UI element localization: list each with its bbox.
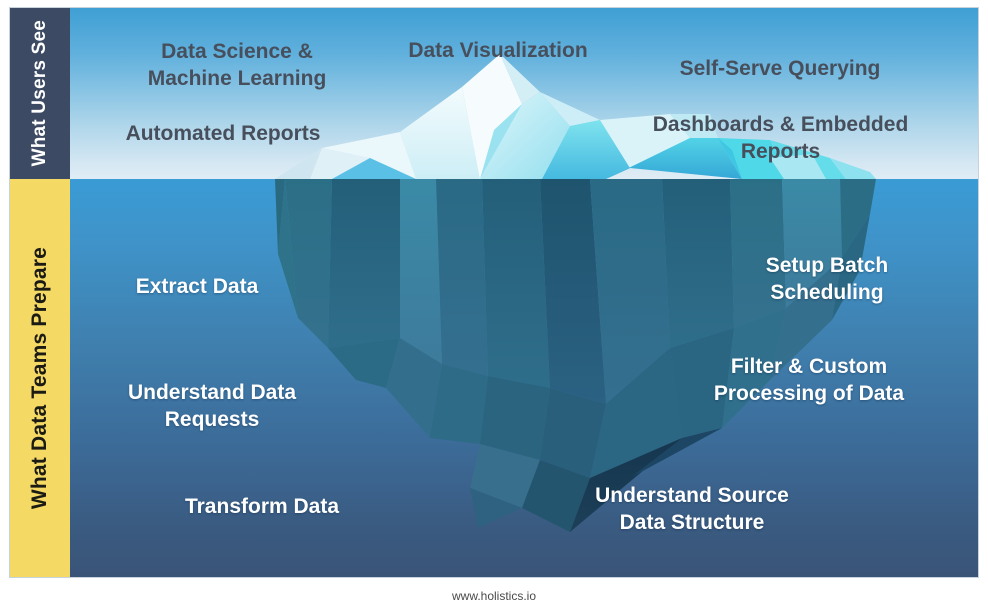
footer-url: www.holistics.io — [452, 589, 536, 603]
band-what-users-see-label: What Users See — [29, 20, 51, 166]
footer: www.holistics.io — [0, 578, 988, 614]
label-setup-batch-scheduling: Setup Batch Scheduling — [682, 253, 972, 307]
label-dashboards-embedded-reports: Dashboards & Embedded Reports — [608, 112, 953, 166]
diagram-panel: What Users See What Data Teams Prepare D… — [9, 7, 979, 578]
label-automated-reports: Automated Reports — [88, 121, 358, 148]
band-what-data-teams-prepare: What Data Teams Prepare — [10, 179, 70, 577]
label-extract-data: Extract Data — [62, 274, 332, 301]
label-understand-data-requests: Understand Data Requests — [62, 380, 362, 434]
label-data-visualization: Data Visualization — [358, 38, 638, 65]
label-data-science-machine-learning: Data Science & Machine Learning — [102, 39, 372, 93]
label-filter-custom-processing: Filter & Custom Processing of Data — [644, 354, 974, 408]
band-what-users-see: What Users See — [10, 8, 70, 179]
band-what-data-teams-prepare-label: What Data Teams Prepare — [28, 247, 52, 509]
iceberg-diagram-page: What Users See What Data Teams Prepare D… — [0, 0, 988, 614]
label-transform-data: Transform Data — [92, 494, 432, 521]
label-understand-source-data-structure: Understand Source Data Structure — [532, 483, 852, 537]
label-self-serve-querying: Self-Serve Querying — [630, 56, 930, 83]
